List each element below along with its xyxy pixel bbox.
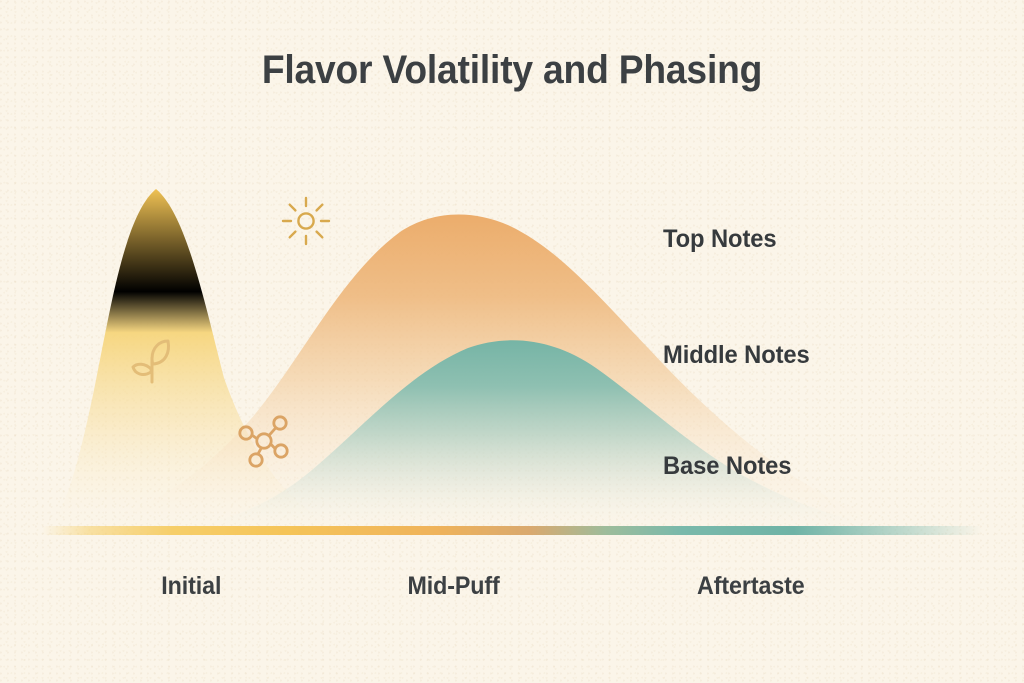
x-axis-gradient-bar bbox=[42, 526, 982, 535]
axis-tick-initial: Initial bbox=[161, 572, 221, 601]
molecule-icon bbox=[234, 411, 294, 476]
series-label-top-notes: Top Notes bbox=[663, 225, 776, 254]
series-label-base-notes: Base Notes bbox=[663, 452, 791, 481]
leaf-icon bbox=[122, 332, 184, 399]
axis-tick-aftertaste: Aftertaste bbox=[697, 572, 805, 601]
sun-icon bbox=[277, 192, 335, 255]
chart-canvas: Flavor Volatility and Phasing bbox=[0, 0, 1024, 683]
series-label-middle-notes: Middle Notes bbox=[663, 341, 810, 370]
axis-tick-mid-puff: Mid-Puff bbox=[407, 572, 499, 601]
